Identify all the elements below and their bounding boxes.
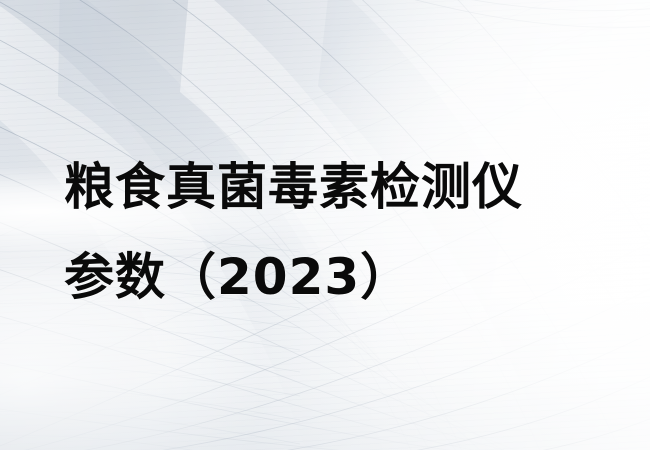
banner-title-line-2: 参数（2023）: [64, 232, 523, 322]
banner-title: 粮食真菌毒素检测仪 参数（2023）: [64, 142, 523, 322]
title-banner: 粮食真菌毒素检测仪 参数（2023）: [0, 0, 650, 450]
mesh-arcs-top: [290, 0, 650, 27]
banner-title-line-1: 粮食真菌毒素检测仪: [64, 142, 523, 232]
